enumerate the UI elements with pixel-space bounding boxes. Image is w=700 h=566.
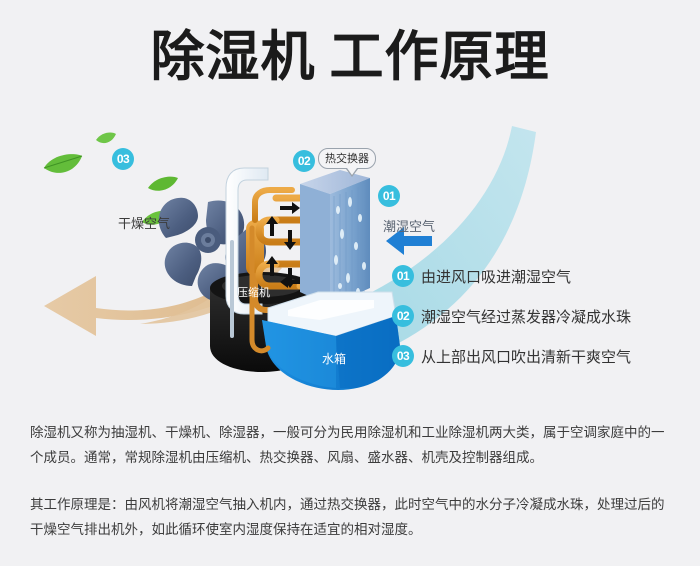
- legend-list: 01 由进风口吸进潮湿空气 02 潮湿空气经过蒸发器冷凝成水珠 03 从上部出风…: [392, 256, 692, 376]
- legend-badge-01: 01: [392, 265, 414, 287]
- page-title: 除湿机工作原理: [0, 26, 700, 88]
- callout-heat-exchanger: 热交换器: [318, 148, 376, 169]
- diagram-badge-03: 03: [112, 148, 134, 170]
- description-block: 除湿机又称为抽湿机、干燥机、除湿器，一般可分为民用除湿机和工业除湿机两大类，属于…: [30, 420, 675, 542]
- description-paragraph-1: 除湿机又称为抽湿机、干燥机、除湿器，一般可分为民用除湿机和工业除湿机两大类，属于…: [30, 420, 675, 470]
- page-root: 除湿机工作原理: [0, 0, 700, 566]
- label-humid-air: 潮湿空气: [383, 216, 435, 235]
- callout-heat-exchanger-label: 热交换器: [325, 153, 369, 165]
- diagram-badge-01: 01: [378, 185, 400, 207]
- legend-item-03: 03 从上部出风口吹出清新干爽空气: [392, 336, 692, 376]
- legend-badge-02: 02: [392, 305, 414, 327]
- title-part-2: 工作原理: [330, 27, 550, 87]
- label-dry-air: 干燥空气: [118, 213, 170, 232]
- legend-text-01: 由进风口吸进潮湿空气: [421, 266, 571, 287]
- legend-item-01: 01 由进风口吸进潮湿空气: [392, 256, 692, 296]
- legend-badge-03: 03: [392, 345, 414, 367]
- legend-text-02: 潮湿空气经过蒸发器冷凝成水珠: [421, 306, 631, 327]
- description-paragraph-2: 其工作原理是：由风机将潮湿空气抽入机内，通过热交换器，此时空气中的水分子冷凝成水…: [30, 492, 675, 542]
- diagram-badge-02: 02: [293, 150, 315, 172]
- legend-item-02: 02 潮湿空气经过蒸发器冷凝成水珠: [392, 296, 692, 336]
- leaf-icons: [44, 132, 178, 224]
- title-part-1: 除湿机: [151, 27, 316, 87]
- label-water-tank: 水箱: [322, 350, 346, 367]
- evaporator-block: [300, 170, 370, 306]
- label-compressor: 压缩机: [237, 284, 270, 300]
- legend-text-03: 从上部出风口吹出清新干爽空气: [421, 346, 631, 367]
